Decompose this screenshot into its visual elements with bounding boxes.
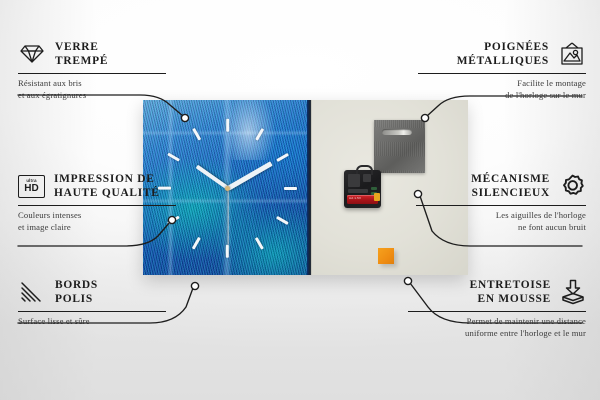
callout-entretoise-en-mousse: ENTRETOISE EN MOUSSE Permet de maintenir… — [408, 278, 586, 339]
callout-description: Résistant aux bris et aux égratignures — [18, 78, 166, 101]
infographic-canvas: AA 1.5V — [0, 0, 600, 400]
foam-spacer — [378, 248, 394, 264]
callout-divider — [18, 311, 166, 312]
callout-header: MÉCANISME SILENCIEUX — [416, 172, 586, 201]
callout-bords-polis: BORDS POLIS Surface lisse et sûre — [18, 278, 166, 328]
callout-title: POIGNÉES MÉTALLIQUES — [457, 40, 549, 69]
callout-title: MÉCANISME SILENCIEUX — [471, 172, 550, 201]
battery-label: AA 1.5V — [349, 197, 361, 200]
clock-movement-mechanism: AA 1.5V — [344, 170, 381, 208]
callout-verre-trempe: VERRE TREMPÉ Résistant aux bris et aux é… — [18, 40, 166, 101]
callout-header: VERRE TREMPÉ — [18, 40, 166, 69]
callout-header: BORDS POLIS — [18, 278, 166, 307]
callout-divider — [418, 73, 586, 74]
callout-mecanisme-silencieux: MÉCANISME SILENCIEUX Les aiguilles de l'… — [416, 172, 586, 233]
callout-title: IMPRESSION DE HAUTE QUALITÉ — [54, 172, 160, 201]
callout-header: POIGNÉES MÉTALLIQUES — [418, 40, 586, 69]
callout-header: ENTRETOISE EN MOUSSE — [408, 278, 586, 307]
battery-terminal — [374, 193, 380, 201]
callout-description: Permet de maintenir une distance uniform… — [408, 316, 586, 339]
glass-specular-highlight — [220, 100, 277, 160]
metal-hanger-plate — [374, 120, 425, 173]
clock-second-hand — [227, 188, 228, 244]
callout-header: ultra HD IMPRESSION DE HAUTE QUALITÉ — [18, 172, 176, 201]
callout-description: Facilite le montage de l'horloge sur le … — [418, 78, 586, 101]
callout-poignees-metalliques: POIGNÉES MÉTALLIQUES Facilite le montage… — [418, 40, 586, 101]
callout-divider — [18, 73, 166, 74]
diagonal-lines-icon — [18, 281, 46, 303]
callout-title: ENTRETOISE EN MOUSSE — [470, 278, 551, 307]
clock-tick — [227, 119, 230, 132]
callout-title: BORDS POLIS — [55, 278, 98, 307]
callout-divider — [416, 205, 586, 206]
callout-description: Surface lisse et sûre — [18, 316, 166, 327]
callout-description: Les aiguilles de l'horloge ne font aucun… — [416, 210, 586, 233]
diamond-icon — [18, 43, 46, 65]
callout-divider — [18, 205, 176, 206]
ultra-hd-icon: ultra HD — [18, 175, 45, 198]
hotspot-dot-bords-polis — [191, 282, 198, 289]
ultra-hd-bottom-label: HD — [24, 184, 38, 194]
gear-icon — [559, 173, 586, 200]
clock-tick — [227, 245, 230, 258]
callout-title: VERRE TREMPÉ — [55, 40, 108, 69]
callout-impression-haute-qualite: ultra HD IMPRESSION DE HAUTE QUALITÉ Cou… — [18, 172, 176, 233]
hanging-picture-frame-icon — [558, 42, 586, 66]
callout-description: Couleurs intenses et image claire — [18, 210, 176, 233]
callout-divider — [408, 311, 586, 312]
battery: AA 1.5V — [347, 195, 378, 204]
clock-tick — [284, 187, 297, 190]
hanger-slot — [382, 129, 412, 135]
foam-spacer-arrow-icon — [560, 279, 586, 305]
